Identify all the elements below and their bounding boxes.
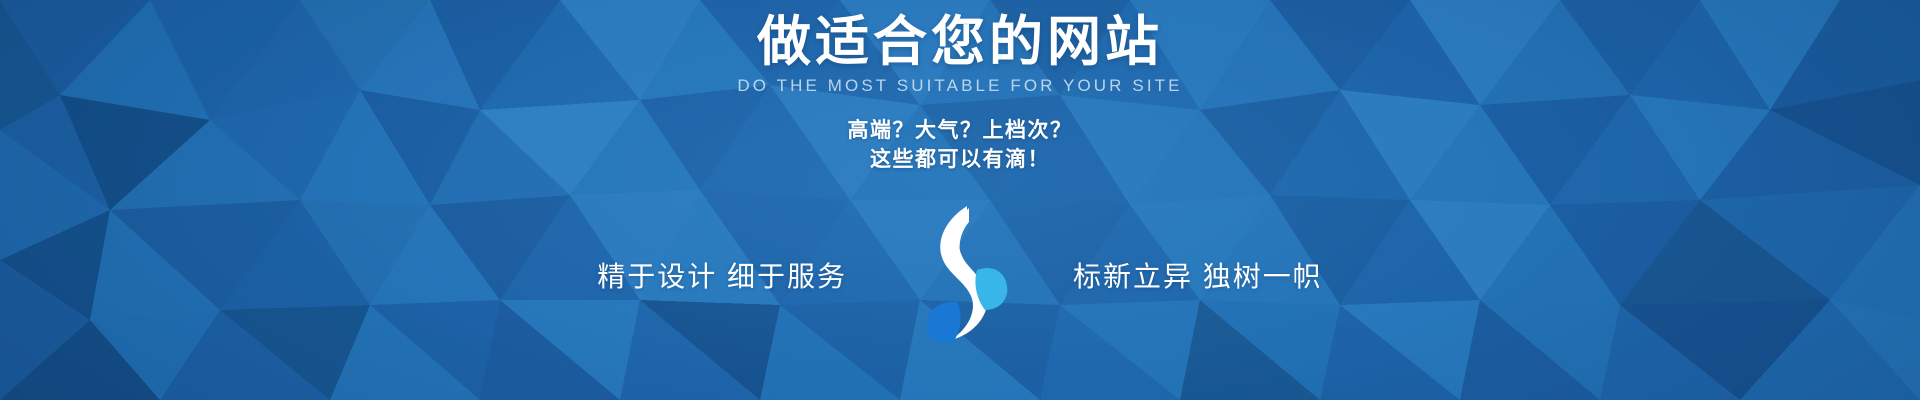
tagline-right: 标新立异 独树一帜 (1073, 255, 1323, 295)
logo-leaf-lower (927, 301, 960, 342)
tagline-row: 精于设计 细于服务 标新立异 独树一帜 (0, 196, 1920, 354)
banner-content: 做适合您的网站 DO THE MOST SUITABLE FOR YOUR SI… (0, 0, 1920, 400)
midline-1: 高端？大气？上档次？ (848, 117, 1073, 145)
logo-graphic (905, 204, 1015, 354)
tagline-left: 精于设计 细于服务 (597, 255, 847, 295)
swirl-leaf-logo (905, 204, 1015, 354)
hero-banner: 做适合您的网站 DO THE MOST SUITABLE FOR YOUR SI… (0, 0, 1920, 400)
english-subtitle: DO THE MOST SUITABLE FOR YOUR SITE (737, 76, 1182, 96)
page-title: 做适合您的网站 (757, 12, 1163, 72)
midline-2: 这些都可以有滴！ (870, 146, 1050, 174)
